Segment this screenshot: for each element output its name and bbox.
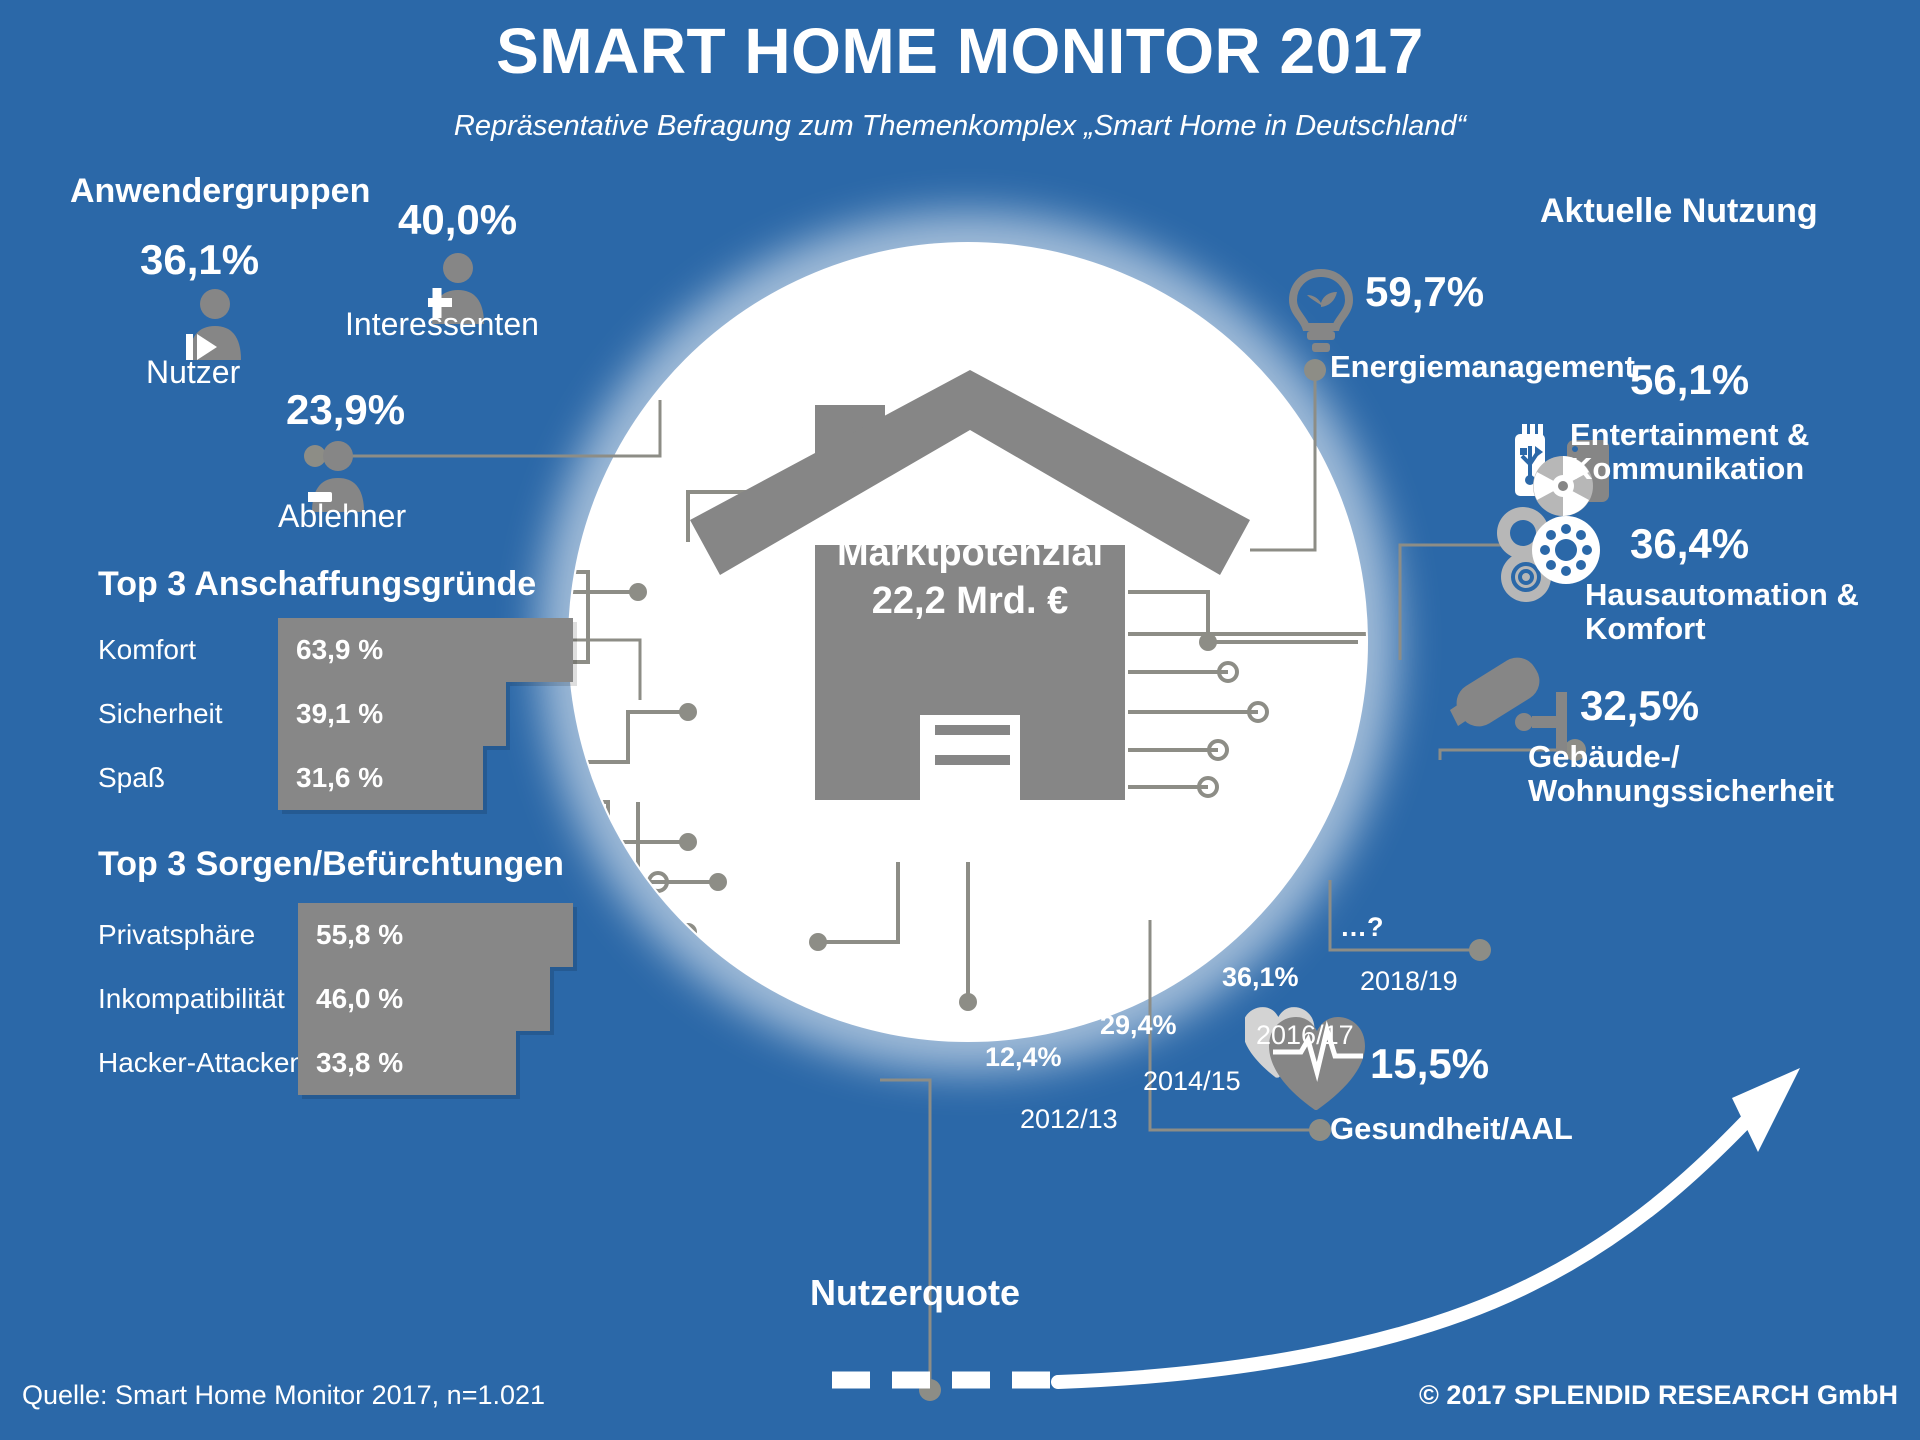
user-group-value-nutzer: 36,1% (140, 236, 259, 284)
concern-row-1: Privatsphäre 55,8 % (98, 903, 498, 967)
reasons-heading: Top 3 Anschaffungsgründe (98, 565, 536, 604)
usage-label-4: Gebäude-/ Wohnungssicherheit (1528, 740, 1834, 808)
trend-value-2014: 29,4% (1100, 1010, 1177, 1041)
user-group-label-nutzer: Nutzer (146, 354, 240, 391)
concern-label-3: Hacker-Attacken (98, 1047, 305, 1079)
nutzerquote-trend-curve (800, 1060, 1920, 1420)
usage-label-2: Entertainment & Kommunikation (1570, 418, 1809, 486)
usage-value-4: 32,5% (1580, 682, 1699, 730)
trend-value-2016: 36,1% (1222, 962, 1299, 993)
usage-label-3: Hausautomation & Komfort (1585, 578, 1859, 646)
concern-bar-1: 55,8 % (298, 903, 573, 967)
trend-value-2018: …? (1340, 912, 1384, 943)
usage-label-1: Energiemanagement (1330, 350, 1635, 384)
reason-value-1: 63,9 % (296, 634, 383, 666)
reason-bar-1: 63,9 % (278, 618, 573, 682)
concern-value-2: 46,0 % (316, 983, 403, 1015)
infographic-canvas: SMART HOME MONITOR 2017 Repräsentative B… (0, 0, 1920, 1440)
user-play-icon (185, 288, 245, 360)
lightbulb-leaf-icon (1285, 265, 1357, 353)
user-group-label-ablehner: Ablehner (278, 498, 406, 535)
reason-row-2: Sicherheit 39,1 % (98, 682, 498, 746)
usage-value-1: 59,7% (1365, 268, 1484, 316)
concern-label-2: Inkompatibilität (98, 983, 285, 1015)
copyright-note: © 2017 SPLENDID RESEARCH GmbH (1419, 1380, 1898, 1411)
concern-label-1: Privatsphäre (98, 919, 255, 951)
trend-year-2012: 2012/13 (1020, 1104, 1118, 1135)
trend-year-2016: 2016/17 (1256, 1020, 1354, 1051)
source-note: Quelle: Smart Home Monitor 2017, n=1.021 (22, 1380, 545, 1411)
concerns-heading: Top 3 Sorgen/Befürchtungen (98, 845, 564, 884)
user-group-value-ablehner: 23,9% (286, 386, 405, 434)
user-group-label-interessenten: Interessenten (345, 306, 539, 343)
user-group-value-interessenten: 40,0% (398, 196, 517, 244)
reason-bar-2: 39,1 % (278, 682, 506, 746)
concern-row-2: Inkompatibilität 46,0 % (98, 967, 498, 1031)
usage-heading: Aktuelle Nutzung (1540, 192, 1818, 231)
usage-value-3: 36,4% (1630, 520, 1749, 568)
concern-row-3: Hacker-Attacken 33,8 % (98, 1031, 498, 1095)
concern-value-1: 55,8 % (316, 919, 403, 951)
reason-value-2: 39,1 % (296, 698, 383, 730)
concern-bar-3: 33,8 % (298, 1031, 516, 1095)
reason-value-3: 31,6 % (296, 762, 383, 794)
reason-label-1: Komfort (98, 634, 196, 666)
reason-label-2: Sicherheit (98, 698, 223, 730)
concern-value-3: 33,8 % (316, 1047, 403, 1079)
user-groups-heading: Anwendergruppen (70, 172, 370, 211)
usage-value-2: 56,1% (1630, 356, 1749, 404)
trend-year-2014: 2014/15 (1143, 1066, 1241, 1097)
concern-bar-2: 46,0 % (298, 967, 550, 1031)
reason-row-3: Spaß 31,6 % (98, 746, 498, 810)
trend-value-2012: 12,4% (985, 1042, 1062, 1073)
reason-row-1: Komfort 63,9 % (98, 618, 498, 682)
reason-bar-3: 31,6 % (278, 746, 483, 810)
trend-year-2018: 2018/19 (1360, 966, 1458, 997)
reason-label-3: Spaß (98, 762, 165, 794)
